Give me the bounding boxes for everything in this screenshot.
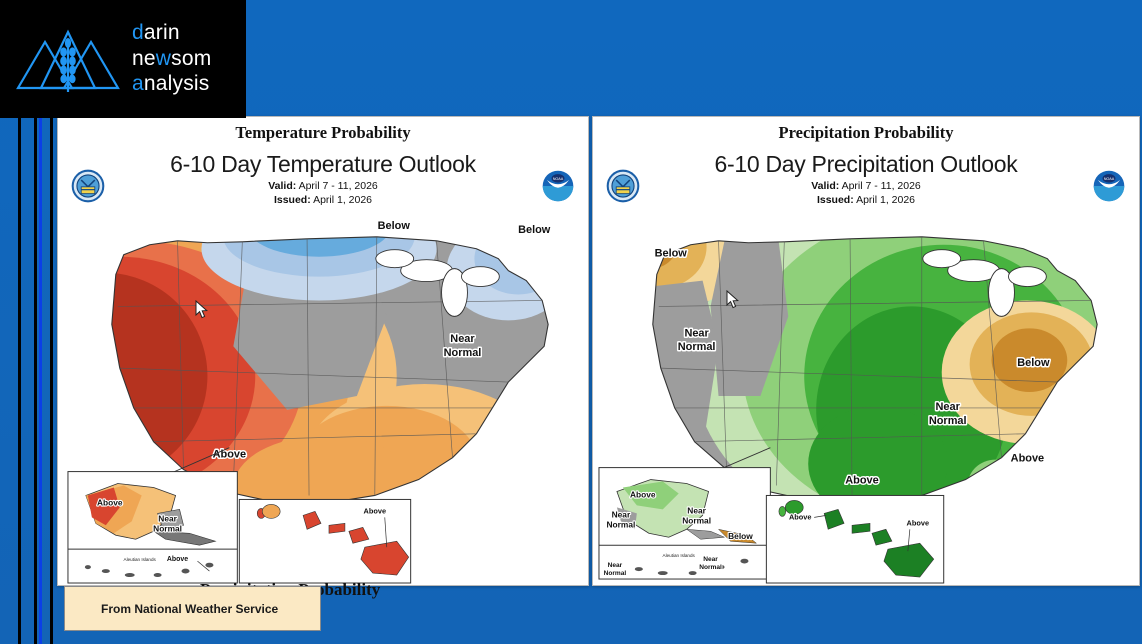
alaska-label-near: Near [158, 513, 177, 523]
valid-label: Valid: [268, 180, 296, 192]
map-label-below-west: Below [655, 248, 688, 260]
map-label-normal-west: Normal [678, 341, 716, 353]
map-label-normal-east: Normal [929, 415, 967, 427]
alaska-label-above: Above [630, 489, 656, 499]
aleutian-label-normal-1: Normal [604, 570, 627, 577]
aleutian-label-normal-2: Normal [699, 564, 722, 571]
alaska-label-near-2: Near [612, 509, 631, 519]
valid-value: April 7 - 11, 2026 [842, 180, 921, 192]
panel-title-temperature: Temperature Probability [58, 123, 588, 143]
map-label-above-southeast: Above [1011, 453, 1044, 465]
map-label-near: Near [450, 333, 475, 345]
panel-title-precipitation: Precipitation Probability [593, 123, 1139, 143]
logo-wordmark: darin newsom analysis [132, 20, 211, 97]
mountain-wheat-icon [14, 22, 124, 98]
mouse-cursor [726, 290, 739, 309]
alaska-label-above: Above [97, 497, 123, 507]
logo-line-1: darin [132, 20, 211, 46]
source-caption-text: From National Weather Service [101, 602, 278, 616]
precipitation-outlook-panel[interactable]: Precipitation Probability NOAA 6-10 Day … [592, 116, 1140, 586]
map-label-near-west: Near [684, 327, 709, 339]
logo-line-3: analysis [132, 71, 211, 97]
hawaii-label-above-2: Above [907, 518, 930, 527]
alaska-inset-precipitation: Above Near Normal Near Normal Below Aleu… [599, 448, 770, 579]
map-label-near-east: Near [936, 401, 961, 413]
hawaii-inset-precipitation: Above Above [766, 495, 943, 583]
mouse-cursor [195, 300, 208, 319]
alaska-label-normal-2: Normal [606, 519, 635, 529]
hawaii-inset-temperature: Above [239, 499, 410, 583]
alaska-label-normal-1: Normal [682, 515, 711, 525]
map-label-above-texas: Above [845, 475, 878, 487]
map-label-normal: Normal [444, 347, 482, 359]
hawaii-label-above: Above [364, 506, 387, 515]
alaska-label-near-1: Near [687, 505, 706, 515]
temperature-map-title: 6-10 Day Temperature Outlook [58, 151, 588, 178]
aleutian-label-above: Above [167, 556, 188, 563]
valid-label: Valid: [811, 180, 839, 192]
aleutian-islands-label: Aleutian Islands [663, 553, 696, 558]
precipitation-map-graphic[interactable]: Below Near Normal Below Near Normal Abov… [593, 197, 1139, 585]
valid-value: April 7 - 11, 2026 [299, 180, 378, 192]
map-label-below-east: Below [1017, 357, 1050, 369]
temperature-outlook-panel[interactable]: Temperature Probability NOAA 6-10 Day Te… [57, 116, 589, 586]
alaska-label-normal: Normal [153, 523, 182, 533]
source-caption: From National Weather Service [64, 586, 321, 631]
map-label-above: Above [213, 449, 246, 461]
aleutian-label-near-1: Near [608, 562, 623, 569]
aleutian-label-near-2: Near [703, 556, 718, 563]
map-label-below-northeast: Below [518, 224, 551, 236]
alaska-label-below: Below [728, 531, 753, 541]
hawaii-label-above-1: Above [789, 512, 812, 521]
precipitation-map-title: 6-10 Day Precipitation Outlook [593, 151, 1139, 178]
logo-line-2: newsom [132, 46, 211, 72]
map-label-below-north: Below [378, 220, 411, 232]
brand-logo: darin newsom analysis [0, 0, 246, 118]
aleutian-islands-label: Aleutian Islands [124, 557, 157, 562]
temperature-map-graphic[interactable]: Above Below Below Near Normal Above Near… [58, 197, 588, 585]
